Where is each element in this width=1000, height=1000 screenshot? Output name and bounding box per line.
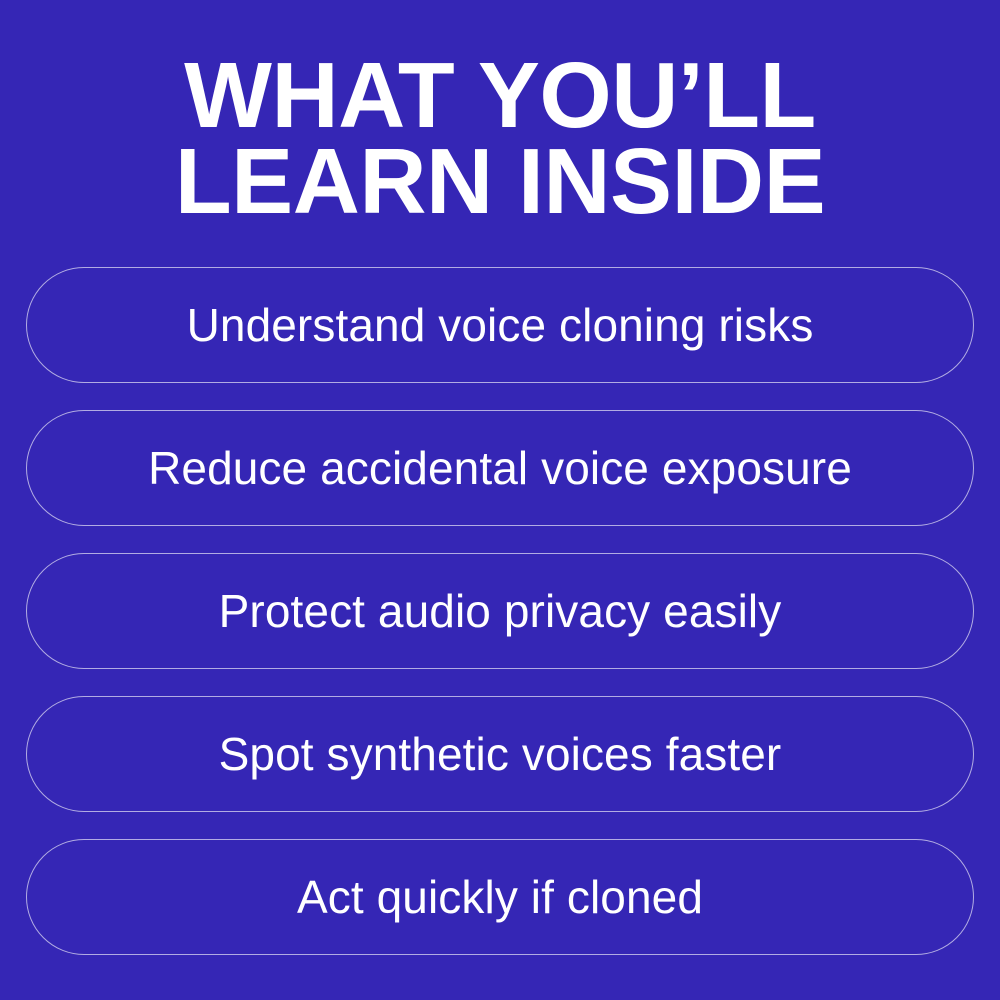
list-item[interactable]: Spot synthetic voices faster (26, 696, 974, 812)
learning-points-list: Understand voice cloning risks Reduce ac… (26, 267, 974, 955)
list-item-label: Understand voice cloning risks (187, 302, 814, 348)
list-item-label: Reduce accidental voice exposure (148, 445, 852, 491)
list-item-label: Spot synthetic voices faster (219, 731, 782, 777)
list-item[interactable]: Act quickly if cloned (26, 839, 974, 955)
poster-canvas: WHAT YOU’LL LEARN INSIDE Understand voic… (0, 0, 1000, 1000)
page-title-line-2: LEARN INSIDE (0, 138, 1000, 224)
page-title-line-1: WHAT YOU’LL (0, 52, 1000, 138)
page-title: WHAT YOU’LL LEARN INSIDE (0, 52, 1000, 224)
list-item[interactable]: Understand voice cloning risks (26, 267, 974, 383)
list-item-label: Protect audio privacy easily (219, 588, 782, 634)
list-item-label: Act quickly if cloned (297, 874, 703, 920)
list-item[interactable]: Protect audio privacy easily (26, 553, 974, 669)
list-item[interactable]: Reduce accidental voice exposure (26, 410, 974, 526)
